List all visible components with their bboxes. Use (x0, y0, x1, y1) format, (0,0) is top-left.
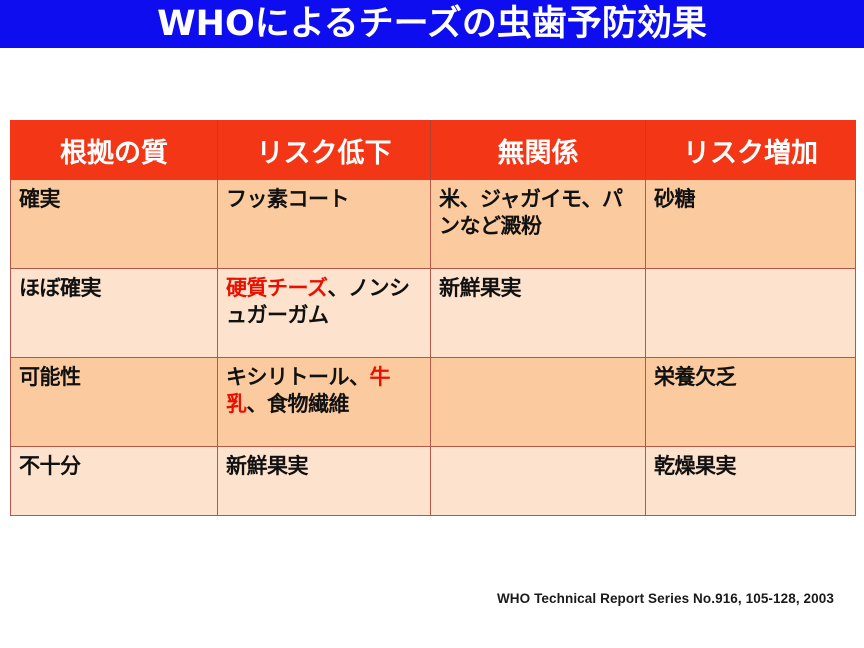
cell-text-plain: フッ素コート (226, 187, 349, 211)
cell-text-plain: 新鮮果実 (226, 454, 308, 478)
cell-no-relation: 米、ジャガイモ、パンなど澱粉 (431, 180, 646, 269)
table-row: 確実 フッ素コート 米、ジャガイモ、パンなど澱粉 砂糖 (11, 180, 856, 269)
cell-risk-decrease: 新鮮果実 (218, 447, 431, 516)
table-row: 不十分 新鮮果実 乾燥果実 (11, 447, 856, 516)
cell-no-relation (431, 447, 646, 516)
column-header-risk-increase: リスク増加 (646, 121, 856, 180)
cell-no-relation: 新鮮果実 (431, 269, 646, 358)
evidence-risk-table: 根拠の質 リスク低下 無関係 リスク増加 確実 フッ素コート 米、ジャガイモ、パ… (10, 120, 856, 516)
cell-risk-decrease: キシリトール、牛乳、食物繊維 (218, 358, 431, 447)
cell-text-plain: キシリトール、 (226, 365, 370, 389)
table-row: ほぼ確実 硬質チーズ、ノンシュガーガム 新鮮果実 (11, 269, 856, 358)
page-title: WHOによるチーズの虫歯予防効果 (157, 3, 707, 45)
cell-risk-decrease: フッ素コート (218, 180, 431, 269)
table-header-row: 根拠の質 リスク低下 無関係 リスク増加 (11, 121, 856, 180)
slide-title-bar: WHOによるチーズの虫歯予防効果 (0, 0, 864, 48)
table-row: 可能性 キシリトール、牛乳、食物繊維 栄養欠乏 (11, 358, 856, 447)
cell-evidence-quality: ほぼ確実 (11, 269, 218, 358)
column-header-no-relation: 無関係 (431, 121, 646, 180)
cell-text-highlight: 硬質チーズ (226, 276, 327, 300)
cell-risk-increase: 栄養欠乏 (646, 358, 856, 447)
column-header-evidence-quality: 根拠の質 (11, 121, 218, 180)
cell-evidence-quality: 確実 (11, 180, 218, 269)
cell-risk-increase (646, 269, 856, 358)
cell-evidence-quality: 可能性 (11, 358, 218, 447)
cell-no-relation (431, 358, 646, 447)
cell-risk-decrease: 硬質チーズ、ノンシュガーガム (218, 269, 431, 358)
column-header-risk-decrease: リスク低下 (218, 121, 431, 180)
cell-risk-increase: 乾燥果実 (646, 447, 856, 516)
source-citation: WHO Technical Report Series No.916, 105-… (0, 591, 834, 606)
cell-text-tail: 、食物繊維 (247, 392, 350, 416)
cell-risk-increase: 砂糖 (646, 180, 856, 269)
cell-evidence-quality: 不十分 (11, 447, 218, 516)
